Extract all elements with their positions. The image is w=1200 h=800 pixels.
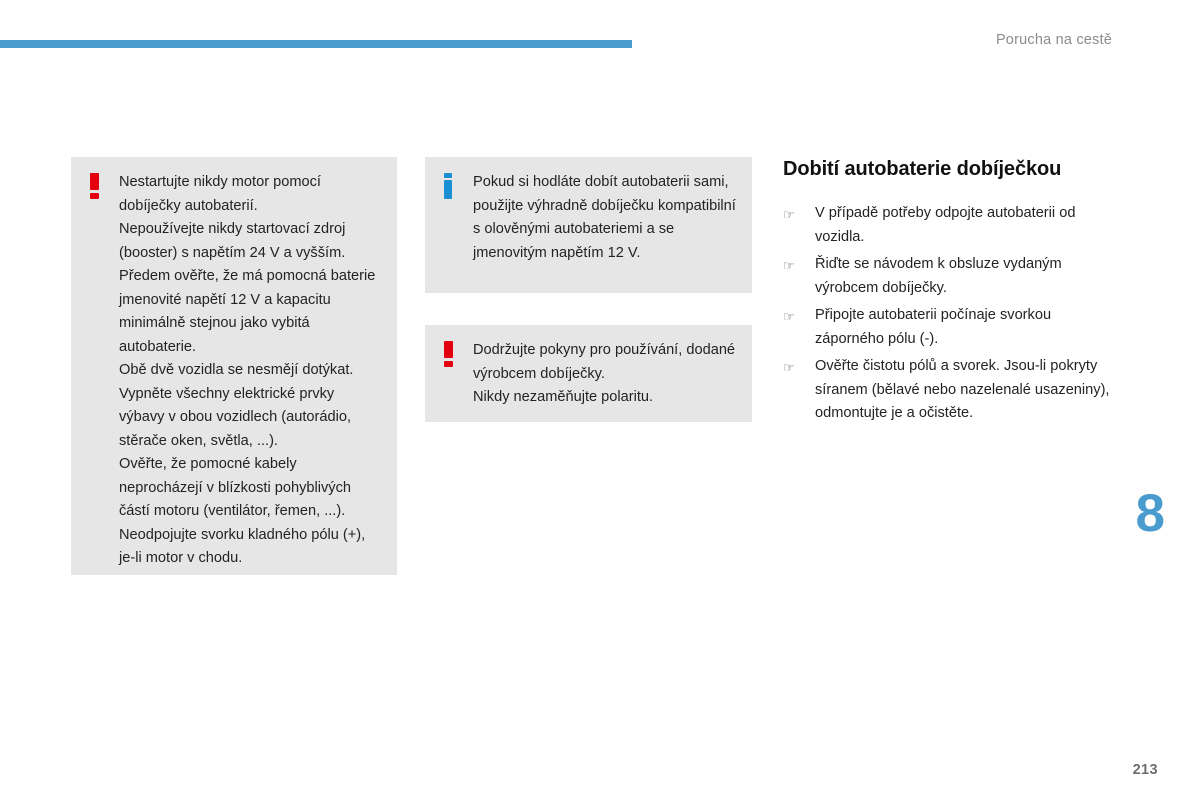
- pointing-hand-icon: ☞: [783, 254, 795, 278]
- procedure-bullet-list: ☞ V případě potřeby odpojte autobaterii …: [783, 202, 1113, 426]
- list-item: ☞ Připojte autobaterii počínaje svorkou …: [783, 304, 1113, 351]
- info-callout-text: Pokud si hodláte dobít autobaterii sami,…: [473, 171, 736, 265]
- pointing-hand-icon: ☞: [783, 203, 795, 227]
- callout-paragraph: Obě dvě vozidla se nesmějí dotýkat.: [119, 359, 381, 383]
- callout-paragraph: Pokud si hodláte dobít autobaterii sami,…: [473, 171, 736, 265]
- pointing-hand-icon: ☞: [783, 356, 795, 380]
- warning-callout-middle-text: Dodržujte pokyny pro používání, dodané v…: [473, 339, 736, 410]
- callout-paragraph: Nepoužívejte nikdy startovací zdroj (boo…: [119, 218, 381, 265]
- list-item: ☞ Řiďte se návodem k obsluze vydaným výr…: [783, 253, 1113, 300]
- section-heading: Dobití autobaterie dobíječkou: [783, 157, 1113, 182]
- page-content: Nestartujte nikdy motor pomocí dobíječky…: [0, 0, 1200, 800]
- callout-paragraph: Nestartujte nikdy motor pomocí dobíječky…: [119, 171, 381, 218]
- warning-callout-left: Nestartujte nikdy motor pomocí dobíječky…: [71, 157, 397, 575]
- callout-paragraph: Nikdy nezaměňujte polaritu.: [473, 386, 736, 410]
- callout-paragraph: Vypněte všechny elektrické prvky výbavy …: [119, 383, 381, 454]
- callout-paragraph: Dodržujte pokyny pro používání, dodané v…: [473, 339, 736, 386]
- warning-callout-middle: Dodržujte pokyny pro používání, dodané v…: [425, 325, 752, 422]
- callout-paragraph: Neodpojujte svorku kladného pólu (+), je…: [119, 524, 381, 571]
- page-number: 213: [1133, 762, 1158, 778]
- middle-column: Pokud si hodláte dobít autobaterii sami,…: [425, 157, 752, 422]
- warning-callout-left-text: Nestartujte nikdy motor pomocí dobíječky…: [119, 171, 381, 571]
- info-icon: [440, 173, 458, 199]
- chapter-number-badge: 8: [1136, 487, 1164, 540]
- left-column: Nestartujte nikdy motor pomocí dobíječky…: [71, 157, 397, 575]
- warning-exclamation-icon: [86, 173, 104, 199]
- list-item: ☞ V případě potřeby odpojte autobaterii …: [783, 202, 1113, 249]
- warning-exclamation-icon: [440, 341, 458, 367]
- pointing-hand-icon: ☞: [783, 305, 795, 329]
- info-callout: Pokud si hodláte dobít autobaterii sami,…: [425, 157, 752, 293]
- list-item-label: V případě potřeby odpojte autobaterii od…: [815, 205, 1075, 245]
- list-item-label: Ověřte čistotu pólů a svorek. Jsou-li po…: [815, 358, 1110, 421]
- right-column: Dobití autobaterie dobíječkou ☞ V případ…: [783, 157, 1113, 430]
- callout-paragraph: Předem ověřte, že má pomocná baterie jme…: [119, 265, 381, 359]
- list-item-label: Připojte autobaterii počínaje svorkou zá…: [815, 307, 1051, 347]
- callout-paragraph: Ověřte, že pomocné kabely neprocházejí v…: [119, 453, 381, 524]
- list-item-label: Řiďte se návodem k obsluze vydaným výrob…: [815, 256, 1062, 296]
- list-item: ☞ Ověřte čistotu pólů a svorek. Jsou-li …: [783, 355, 1113, 426]
